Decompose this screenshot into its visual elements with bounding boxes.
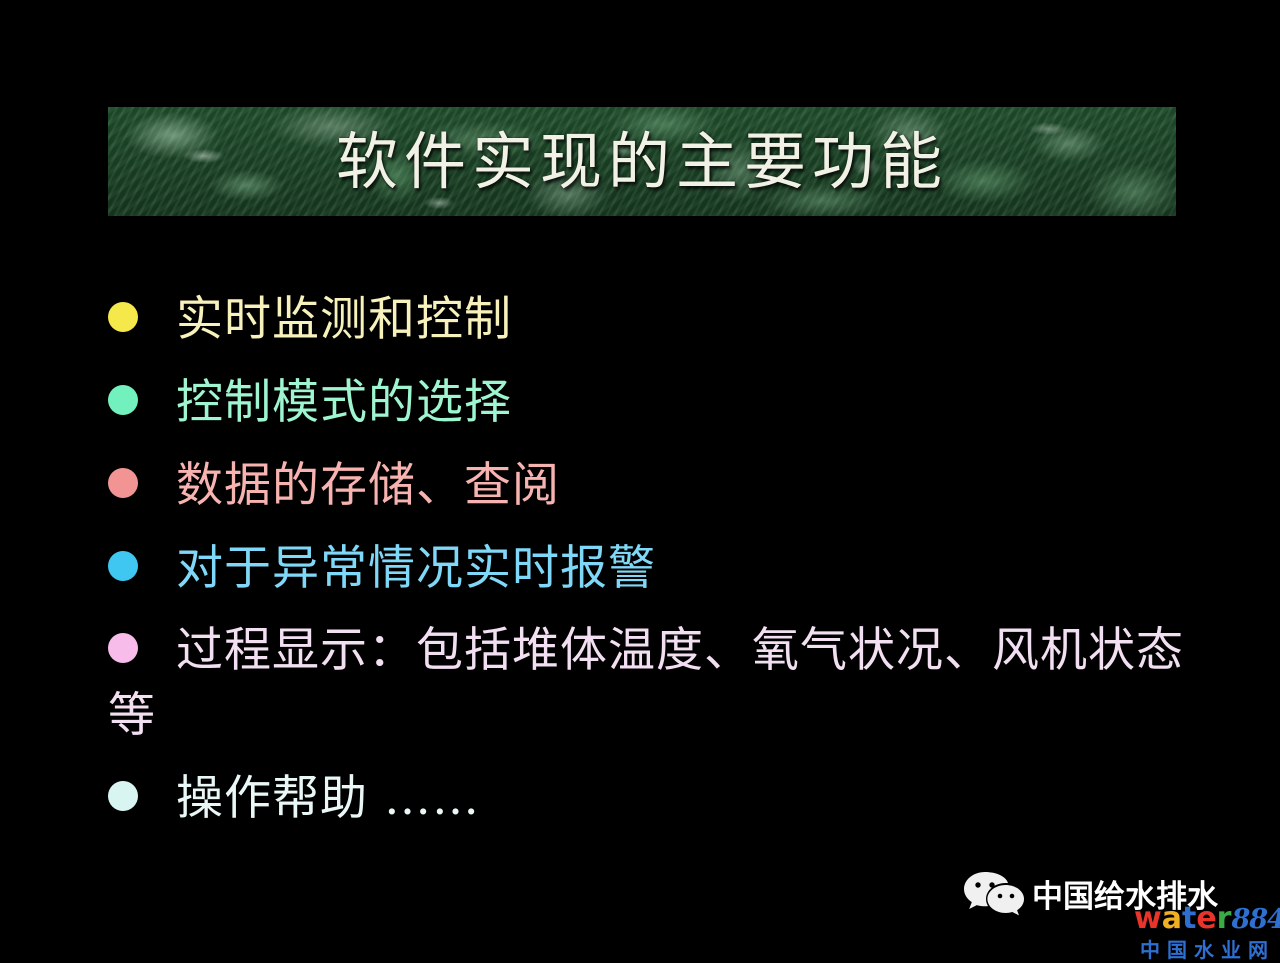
site-letter-e: e	[1196, 901, 1216, 936]
watermark-site-cn: 中国水业网	[1140, 934, 1275, 963]
bullet-dot-salmon	[108, 468, 138, 498]
list-item: 过程显示：包括堆体温度、氧气状况、风机状态等	[108, 619, 1198, 749]
list-item: 对于异常情况实时报警	[108, 537, 1198, 602]
bullet-text: 过程显示：包括堆体温度、氧气状况、风机状态等	[108, 619, 1198, 749]
bullet-list: 实时监测和控制 控制模式的选择 数据的存储、查阅 对于异常情况实时报警 过程显示…	[108, 288, 1198, 850]
list-item: 操作帮助 ……	[108, 767, 1198, 832]
bullet-dot-palecyan	[108, 781, 138, 811]
bullet-text: 实时监测和控制	[176, 288, 1198, 353]
bullet-dot-skyblue	[108, 551, 138, 581]
slide-canvas: 软件实现的主要功能 实时监测和控制 控制模式的选择 数据的存储、查阅 对于异常情…	[0, 0, 1280, 960]
list-item: 数据的存储、查阅	[108, 454, 1198, 519]
wechat-icon	[962, 870, 1026, 916]
site-letter-t: t	[1182, 901, 1196, 936]
bullet-text: 操作帮助 ……	[176, 767, 1198, 832]
site-letter-a: a	[1162, 901, 1182, 936]
watermark: 中国给水排水 water8848.com 中国水业网	[962, 868, 1280, 960]
bullet-text: 控制模式的选择	[176, 371, 1198, 436]
bullet-dot-yellow	[108, 302, 138, 332]
bullet-text: 对于异常情况实时报警	[176, 537, 1198, 602]
title-banner: 软件实现的主要功能	[108, 107, 1176, 216]
list-item: 实时监测和控制	[108, 288, 1198, 353]
list-item: 控制模式的选择	[108, 371, 1198, 436]
bullet-text: 数据的存储、查阅	[176, 454, 1198, 519]
bullet-dot-mint	[108, 385, 138, 415]
site-letter-r: r	[1217, 901, 1232, 936]
page-title: 软件实现的主要功能	[108, 107, 1176, 216]
site-letter-w: w	[1134, 901, 1162, 936]
site-number: 8848	[1231, 904, 1280, 935]
